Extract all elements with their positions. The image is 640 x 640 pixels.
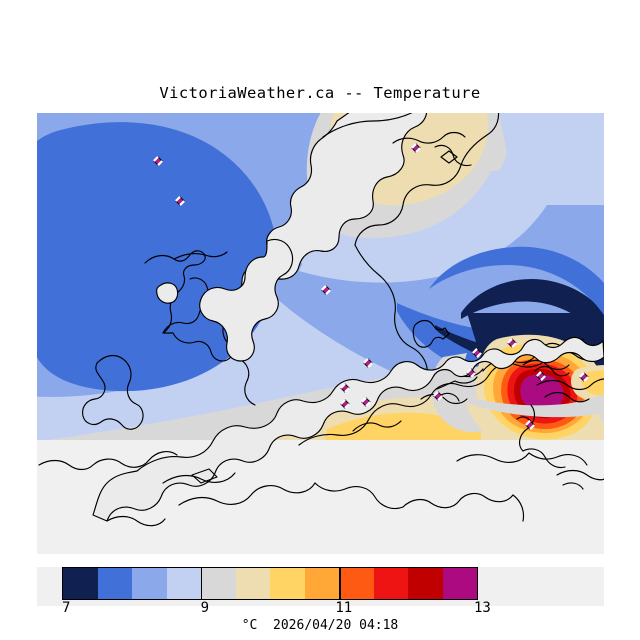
colorbar-tick-label: 9 [201, 600, 209, 616]
colorbar-tick-label: 13 [474, 600, 491, 616]
colorbar-units-label: °C 2026/04/20 04:18 [0, 618, 640, 633]
colorbar-swatch[interactable] [201, 568, 236, 599]
colorbar-swatch[interactable] [132, 568, 167, 599]
temperature-contour-map[interactable] [37, 113, 604, 554]
colorbar-tick-mark [339, 567, 341, 600]
colorbar-tick-label: 7 [62, 600, 70, 616]
colorbar[interactable]: 791113 °C 2026/04/20 04:18 [0, 560, 640, 640]
colorbar-tick-label: 11 [335, 600, 352, 616]
colorbar-swatch[interactable] [443, 568, 478, 599]
colorbar-swatch[interactable] [63, 568, 98, 599]
colorbar-swatches[interactable] [62, 567, 478, 600]
colorbar-swatch[interactable] [339, 568, 374, 599]
colorbar-ticks: 791113 [0, 600, 640, 620]
coastline [157, 283, 178, 303]
weather-map-page: VictoriaWeather.ca -- Temperature [0, 0, 640, 640]
colorbar-tick-mark [201, 567, 203, 600]
colorbar-swatch[interactable] [305, 568, 340, 599]
map-panel[interactable] [37, 113, 604, 554]
colorbar-swatch[interactable] [167, 568, 202, 599]
colorbar-swatch[interactable] [374, 568, 409, 599]
colorbar-swatch[interactable] [236, 568, 271, 599]
colorbar-swatch[interactable] [408, 568, 443, 599]
colorbar-swatch[interactable] [98, 568, 133, 599]
page-title: VictoriaWeather.ca -- Temperature [0, 84, 640, 102]
colorbar-swatch[interactable] [270, 568, 305, 599]
